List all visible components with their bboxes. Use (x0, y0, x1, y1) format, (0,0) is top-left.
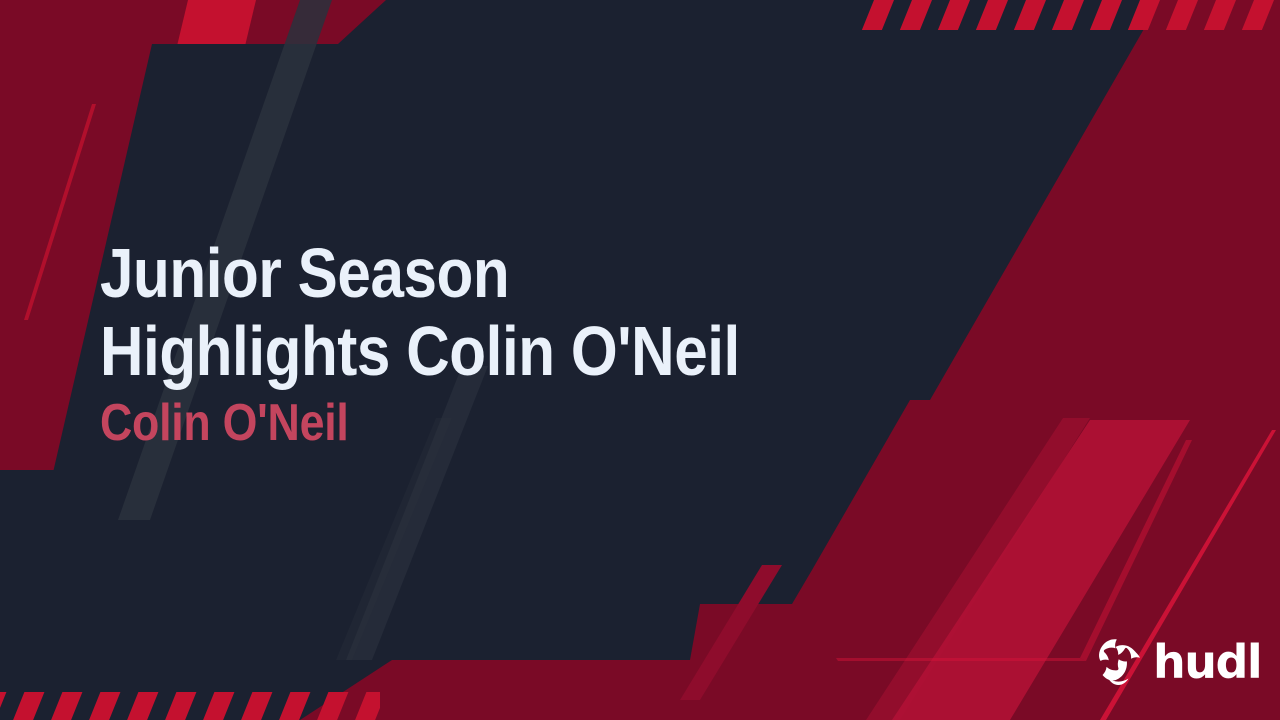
hudl-triskelion-icon (1092, 636, 1144, 688)
video-title-line-2: Highlights Colin O'Neil (100, 312, 788, 390)
video-title-card: Junior Season Highlights Colin O'Neil Co… (0, 0, 1280, 720)
hatch-band-bottom-left (0, 692, 380, 720)
navy-panel-lower-left (0, 470, 240, 720)
video-subtitle: Colin O'Neil (100, 394, 788, 452)
outline-stroke-right (836, 658, 1086, 661)
hudl-logo: hudl (1092, 636, 1261, 688)
video-title-line-1: Junior Season (100, 234, 788, 312)
title-block: Junior Season Highlights Colin O'Neil Co… (100, 234, 900, 452)
hatch-band-top-right (856, 0, 1280, 30)
hudl-wordmark: hudl (1153, 639, 1261, 685)
